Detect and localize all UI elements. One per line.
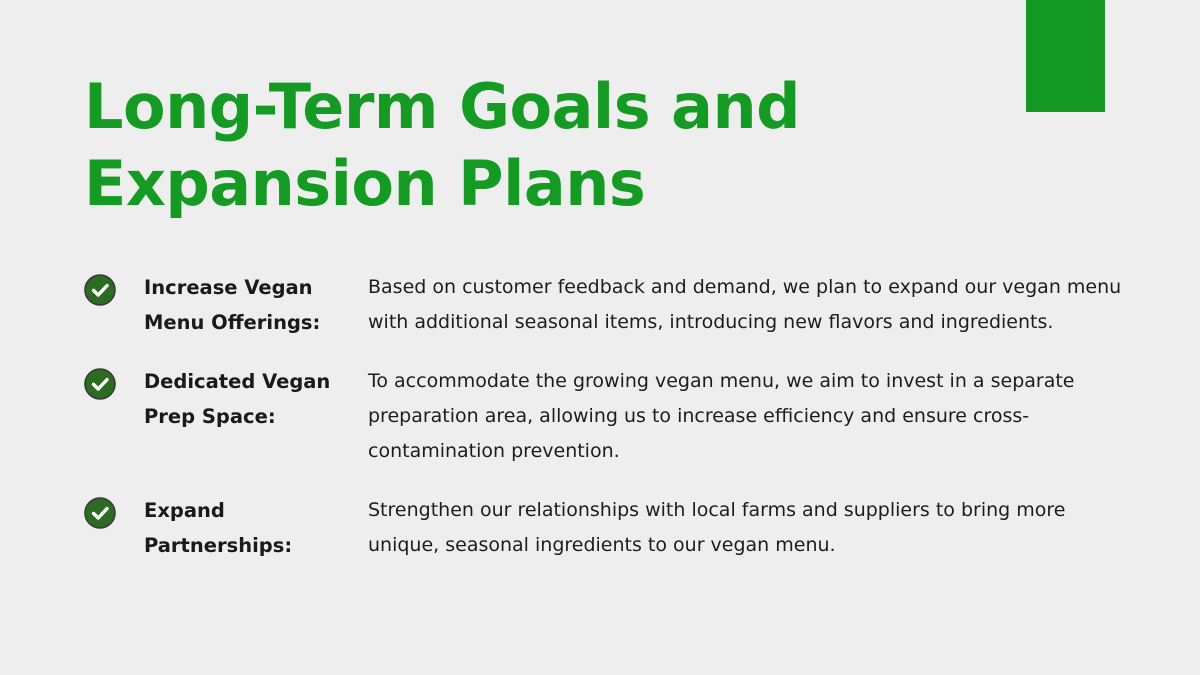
check-circle-icon-cell — [84, 362, 144, 400]
page-title-line-2: Expansion Plans — [84, 145, 914, 222]
list-item: Expand Partnerships: Strengthen our rela… — [84, 491, 1134, 563]
goal-label: Dedicated Vegan Prep Space: — [144, 362, 368, 434]
goal-description: To accommodate the growing vegan menu, w… — [368, 362, 1128, 469]
goal-label: Expand Partnerships: — [144, 491, 368, 563]
check-circle-icon — [84, 274, 116, 306]
page-title: Long-Term Goals and Expansion Plans — [84, 68, 914, 222]
green-rectangle-decoration — [1026, 0, 1105, 112]
check-circle-icon-cell — [84, 491, 144, 529]
check-circle-icon — [84, 368, 116, 400]
goal-description: Strengthen our relationships with local … — [368, 491, 1128, 563]
list-item: Increase Vegan Menu Offerings: Based on … — [84, 268, 1134, 340]
list-item: Dedicated Vegan Prep Space: To accommoda… — [84, 362, 1134, 469]
check-circle-icon — [84, 497, 116, 529]
check-circle-icon-cell — [84, 268, 144, 306]
page-title-line-1: Long-Term Goals and — [84, 68, 914, 145]
goals-list: Increase Vegan Menu Offerings: Based on … — [84, 268, 1134, 563]
goal-label: Increase Vegan Menu Offerings: — [144, 268, 368, 340]
slide-canvas: Long-Term Goals and Expansion Plans Incr… — [0, 0, 1200, 675]
goal-description: Based on customer feedback and demand, w… — [368, 268, 1128, 340]
